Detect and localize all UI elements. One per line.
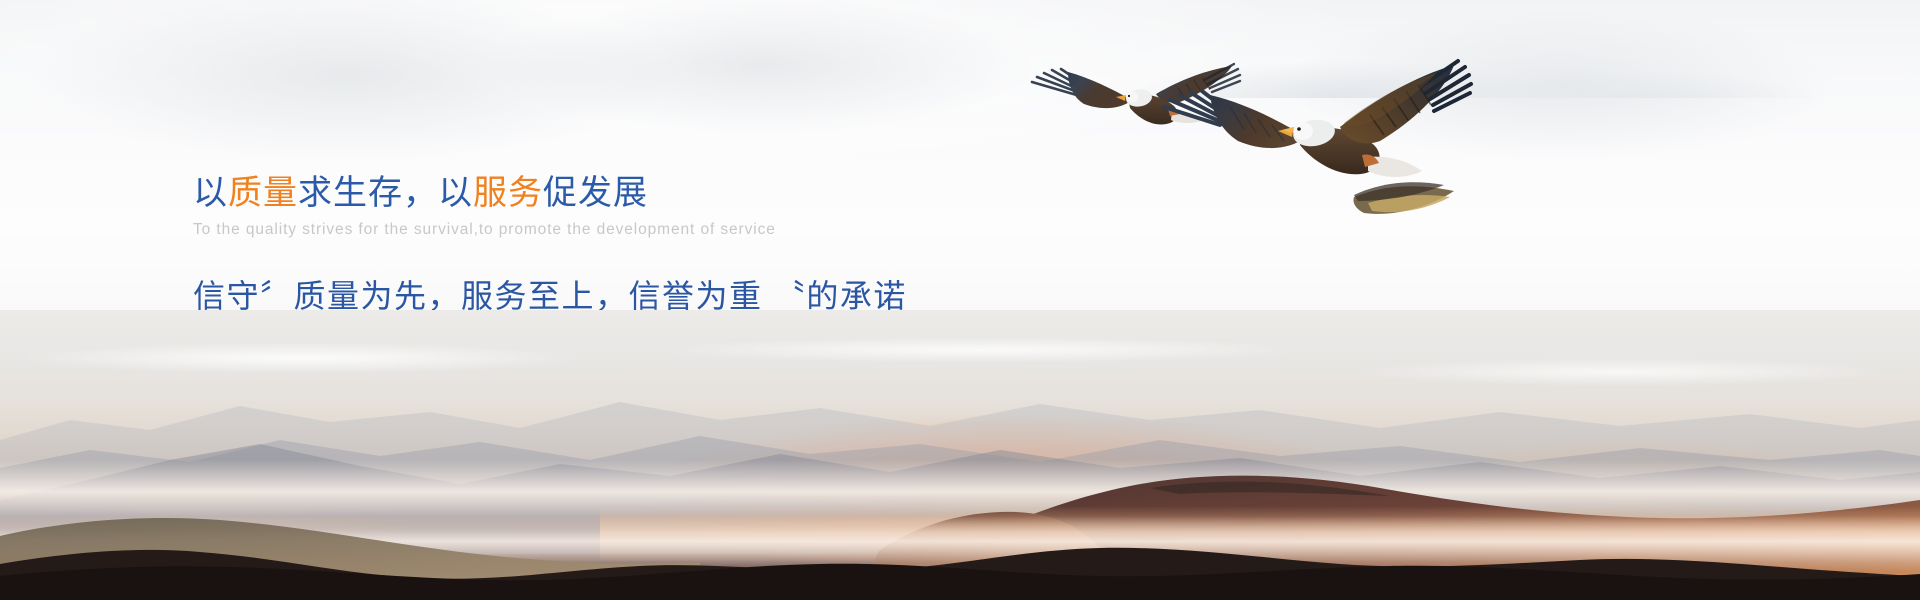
headline-primary-part-1: 以: [193, 174, 228, 212]
headline-primary: 以质量求生存，以服务促发展: [193, 174, 1193, 213]
subtitle-primary-english: To the quality strives for the survival,…: [193, 221, 1193, 239]
headline-primary-highlight-quality: 质量: [228, 174, 298, 212]
mountain-landscape: [0, 310, 1920, 600]
eagle-large-icon: [1158, 45, 1488, 245]
ridge-silhouette-darkest: [0, 558, 1920, 600]
headline-primary-part-3: 促发展: [543, 174, 648, 212]
sky-haze-center: [380, 0, 1140, 160]
headline-primary-highlight-service: 服务: [473, 174, 543, 212]
corporate-slogan-banner: 以质量求生存，以服务促发展 To the quality strives for…: [0, 0, 1920, 600]
headline-primary-part-2: 求生存，以: [298, 174, 473, 212]
